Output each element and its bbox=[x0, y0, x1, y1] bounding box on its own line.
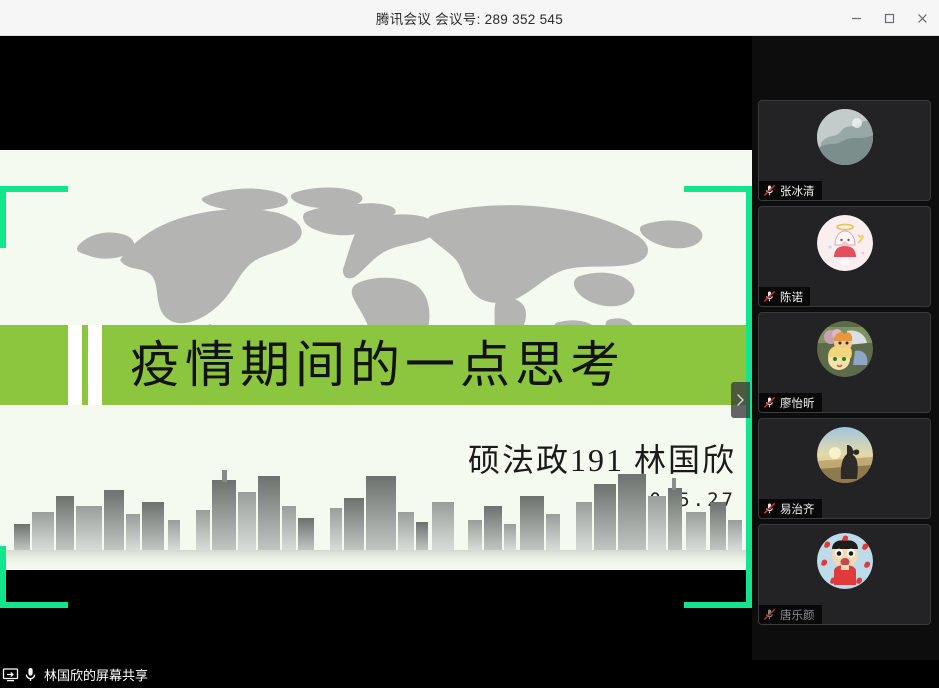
participant-tile[interactable]: 张冰清 bbox=[758, 100, 931, 201]
shared-screen-stage[interactable]: 疫情期间的一点思考 硕法政191 林国欣 2020.5.27 bbox=[0, 36, 752, 660]
tencent-meeting-window: 腾讯会议 会议号: 289 352 545 bbox=[0, 0, 939, 688]
participant-tile[interactable]: 唐乐颜 bbox=[758, 524, 931, 625]
microphone-muted-icon bbox=[763, 608, 776, 621]
window-controls bbox=[840, 0, 939, 36]
microphone-muted-icon bbox=[763, 502, 776, 515]
accent-gap-1 bbox=[68, 325, 82, 405]
window-title: 腾讯会议 会议号: 289 352 545 bbox=[376, 8, 563, 28]
avatar bbox=[817, 215, 873, 271]
close-button[interactable] bbox=[906, 0, 939, 36]
cityscape-graphic bbox=[0, 462, 752, 570]
microphone-muted-icon bbox=[763, 396, 776, 409]
participant-name: 唐乐颜 bbox=[780, 607, 815, 623]
slide-title: 疫情期间的一点思考 bbox=[102, 340, 625, 390]
window-titlebar: 腾讯会议 会议号: 289 352 545 bbox=[0, 0, 939, 36]
share-status-text: 林国欣的屏幕共享 bbox=[44, 665, 148, 684]
participant-name-chip: 张冰清 bbox=[759, 181, 822, 200]
participant-name: 张冰清 bbox=[780, 183, 815, 199]
participant-name-chip: 陈诺 bbox=[759, 287, 810, 306]
avatar bbox=[817, 427, 873, 483]
participant-rail[interactable]: 张冰清 bbox=[752, 36, 939, 660]
share-bracket-top-left-h bbox=[0, 186, 68, 192]
microphone-muted-icon bbox=[763, 290, 776, 303]
participant-name-chip: 廖怡昕 bbox=[759, 393, 822, 412]
accent-gap-2 bbox=[88, 325, 102, 405]
share-bracket-bottom-left-v bbox=[0, 546, 6, 608]
chevron-right-icon[interactable] bbox=[731, 382, 750, 418]
rail-bottom-filler bbox=[752, 660, 939, 688]
participant-tile[interactable]: 廖怡昕 bbox=[758, 312, 931, 413]
participant-name: 廖怡昕 bbox=[780, 395, 815, 411]
avatar bbox=[817, 533, 873, 589]
maximize-button[interactable] bbox=[873, 0, 906, 36]
microphone-muted-icon bbox=[763, 184, 776, 197]
minimize-button[interactable] bbox=[840, 0, 873, 36]
share-bracket-bottom-left-h bbox=[0, 602, 68, 608]
microphone-icon bbox=[22, 666, 39, 683]
title-band: 疫情期间的一点思考 bbox=[102, 325, 752, 405]
participant-name-chip: 易治齐 bbox=[759, 499, 822, 518]
avatar bbox=[817, 109, 873, 165]
participant-tile[interactable]: 易治齐 bbox=[758, 418, 931, 519]
participant-name-chip: 唐乐颜 bbox=[759, 605, 822, 624]
participant-name: 易治齐 bbox=[780, 501, 815, 517]
presentation-slide: 疫情期间的一点思考 硕法政191 林国欣 2020.5.27 bbox=[0, 150, 752, 570]
screen-share-icon bbox=[2, 666, 19, 683]
share-bracket-bottom-right-h bbox=[684, 602, 752, 608]
slide-title-band: 疫情期间的一点思考 bbox=[0, 325, 752, 405]
participant-tile[interactable]: 陈诺 bbox=[758, 206, 931, 307]
avatar bbox=[817, 321, 873, 377]
accent-block-wide bbox=[0, 325, 68, 405]
participant-name: 陈诺 bbox=[780, 289, 803, 305]
share-bracket-top-right-h bbox=[684, 186, 752, 192]
share-bracket-top-left-v bbox=[0, 186, 6, 248]
